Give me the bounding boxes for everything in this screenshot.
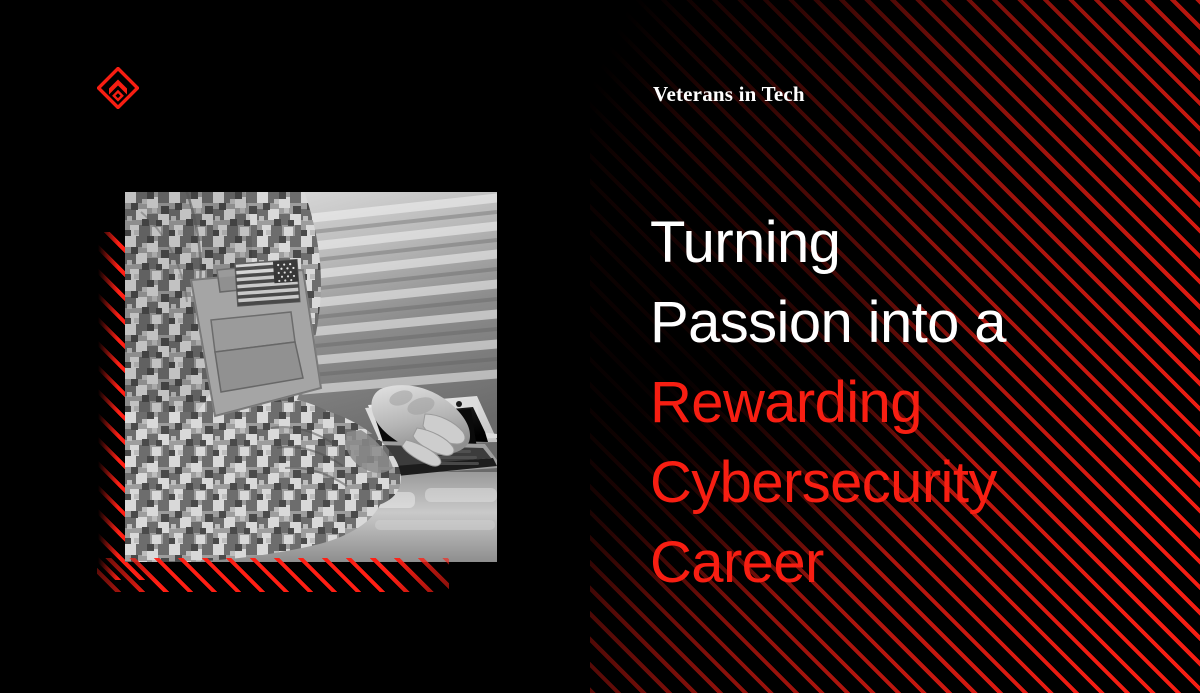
promotional-banner: Veterans in Tech <box>0 0 1200 693</box>
hero-photo-container <box>125 192 497 562</box>
diagonal-stripe-accent-bottom <box>97 558 449 592</box>
soldier-with-laptop-photo <box>125 192 497 562</box>
headline-line-1: Turning <box>650 203 1120 283</box>
headline: Turning Passion into a Rewarding Cyberse… <box>650 203 1120 603</box>
headline-line-5: Career <box>650 523 1120 603</box>
headline-line-2: Passion into a <box>650 283 1120 363</box>
brand-name: Veterans in Tech <box>653 82 805 107</box>
headline-line-3: Rewarding <box>650 363 1120 443</box>
headline-line-4: Cybersecurity <box>650 443 1120 523</box>
veterans-in-tech-diamond-logo[interactable] <box>97 67 139 109</box>
